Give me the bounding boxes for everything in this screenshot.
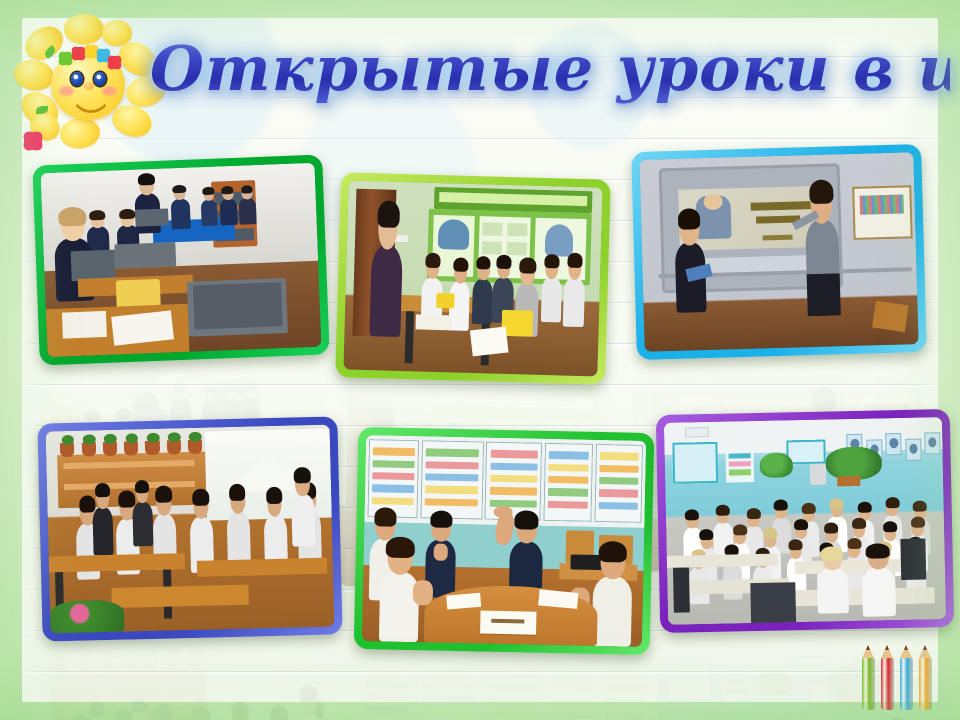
photo-6[interactable] [656,409,955,633]
photo-4-reflection [37,638,342,720]
photo-3-image [639,152,918,352]
photo-1-image [41,163,322,357]
pencil-lead-1 [866,645,870,650]
photo-5[interactable] [354,427,655,655]
photo-2-image [343,180,602,376]
photo-5-image [362,435,646,647]
pencil-lead-3 [904,645,908,650]
pencil-3 [900,658,913,710]
photo-5-reflection [354,653,655,720]
photo-4-image [46,425,335,634]
pencil-lead-2 [885,645,889,650]
pencil-4 [919,658,932,710]
pencil-2 [881,658,894,710]
photo-4[interactable] [37,416,342,641]
sun-icon [14,14,164,154]
sun-face [51,50,125,120]
photo-2[interactable] [335,172,611,384]
photo-6-image [664,417,946,625]
page-title: Открытые уроки в школе [150,26,950,112]
pencil-1 [862,658,875,710]
presentation-slide: Открытые уроки в школе [0,0,960,720]
photo-3[interactable] [631,144,927,360]
photo-1[interactable] [32,155,329,366]
colored-pencils-icon [862,638,948,710]
pencil-lead-4 [923,645,927,650]
